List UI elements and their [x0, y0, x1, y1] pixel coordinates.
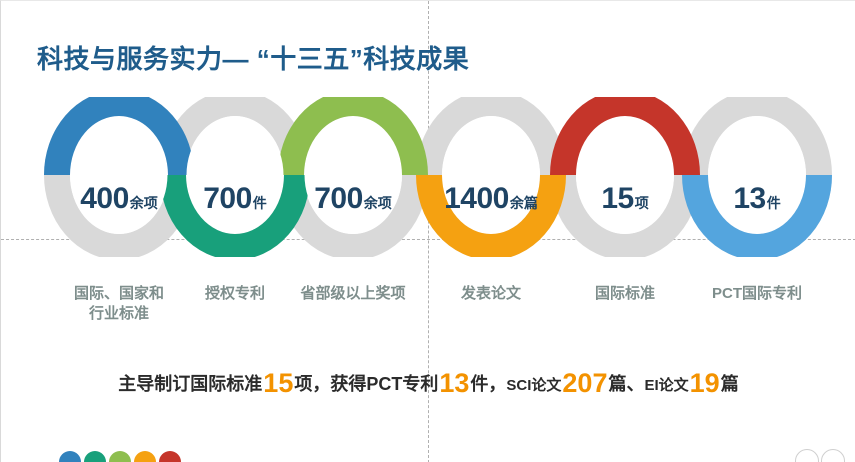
- ring-value-3: 700余项: [314, 184, 392, 214]
- summary-part-4b: EI论文: [644, 377, 688, 394]
- summary-number-sci: 207: [562, 368, 607, 398]
- decorative-corner-rings: [795, 449, 845, 462]
- ring-unit-5: 项: [635, 195, 649, 211]
- ring-number-4: 1400: [444, 182, 509, 215]
- summary-number-standards: 15: [263, 368, 293, 398]
- summary-number-ei: 19: [690, 368, 720, 398]
- ring-inner-5: [577, 117, 674, 234]
- ring-value-2: 700件: [203, 184, 267, 214]
- decorative-dot-3: [109, 451, 131, 462]
- decorative-dots: [59, 451, 181, 462]
- summary-sentence: 主导制订国际标准15项，获得PCT专利13件，SCI论文207篇、EI论文19篇: [1, 368, 855, 399]
- ring-caption-6: PCT国际专利: [682, 284, 832, 304]
- summary-part-2: 项，获得PCT专利: [294, 374, 438, 394]
- ring-value-1: 400余项: [80, 184, 158, 214]
- decorative-dot-2: [84, 451, 106, 462]
- ring-caption-5: 国际标准: [550, 284, 700, 304]
- ring-number-2: 700: [203, 182, 252, 215]
- summary-part-4: 篇、: [608, 374, 644, 394]
- summary-part-3: 件，: [470, 374, 506, 394]
- decorative-dot-1: [59, 451, 81, 462]
- page-title: 科技与服务实力— “十三五”科技成果: [37, 39, 469, 76]
- ring-inner-2: [187, 117, 284, 234]
- summary-part-1: 主导制订国际标准: [118, 374, 262, 394]
- ring-number-5: 15: [601, 182, 633, 215]
- ring-number-1: 400: [80, 182, 129, 215]
- ring-number-3: 700: [314, 182, 363, 215]
- ring-unit-1: 余项: [130, 195, 158, 211]
- decorative-corner-ring-1: [795, 449, 819, 462]
- summary-part-3b: SCI论文: [506, 377, 561, 394]
- ring-unit-4: 余篇: [510, 195, 538, 211]
- ring-unit-2: 件: [253, 195, 267, 211]
- summary-number-pct: 13: [439, 368, 469, 398]
- ring-inner-1: [71, 117, 168, 234]
- ring-number-6: 13: [733, 182, 765, 215]
- decorative-dot-5: [159, 451, 181, 462]
- ring-unit-6: 件: [767, 195, 781, 211]
- ring-inner-4: [443, 117, 540, 234]
- decorative-corner-ring-2: [821, 449, 845, 462]
- ring-unit-3: 余项: [364, 195, 392, 211]
- ring-caption-4: 发表论文: [416, 284, 566, 304]
- ring-inner-6: [709, 117, 806, 234]
- ring-caption-3: 省部级以上奖项: [278, 284, 428, 304]
- ring-chain-chart: [1, 97, 855, 257]
- ring-value-4: 1400余篇: [444, 184, 538, 214]
- ring-value-6: 13件: [733, 184, 780, 214]
- ring-value-5: 15项: [601, 184, 648, 214]
- decorative-dot-4: [134, 451, 156, 462]
- summary-part-5: 篇: [721, 374, 739, 394]
- ring-inner-3: [305, 117, 402, 234]
- slide-canvas: 科技与服务实力— “十三五”科技成果 400余项700件700余项1400余篇1…: [0, 0, 855, 462]
